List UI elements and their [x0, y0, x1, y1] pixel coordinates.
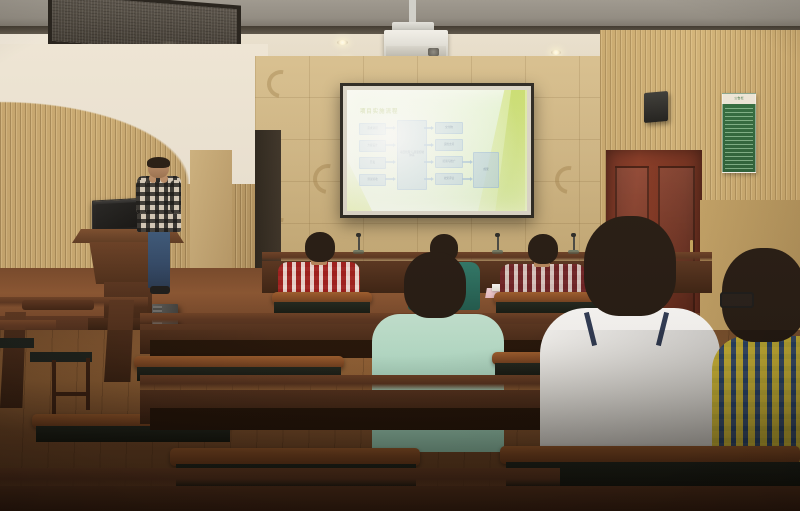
projector-lens — [428, 48, 439, 56]
presenter-hair — [147, 157, 170, 168]
lecture-hall-photo: 公告栏 项目实施流程 需求调研 方案设计 开发 测试验收 — [0, 0, 800, 511]
green-notice-board[interactable]: 公告栏 — [722, 93, 756, 173]
plaid-pattern — [136, 180, 147, 214]
notice-board-text-rows — [725, 106, 753, 169]
attendee-head — [584, 216, 676, 316]
floor-shading — [0, 330, 800, 511]
presenter-arm-right — [170, 180, 181, 214]
projection-screen: 项目实施流程 需求调研 方案设计 开发 测试验收 项目管理 与质量控制体系 交付… — [340, 83, 534, 218]
presenter-jeans — [148, 230, 170, 288]
plaid-pattern — [170, 180, 181, 214]
presenter-speaking — [136, 158, 182, 306]
notice-board-header: 公告栏 — [734, 96, 744, 100]
screen-border: 项目实施流程 需求调研 方案设计 开发 测试验收 项目管理 与质量控制体系 交付… — [343, 86, 531, 215]
wall-speaker — [644, 91, 668, 123]
recessed-downlight — [337, 40, 348, 45]
mic-stem — [497, 236, 499, 250]
projection-glare — [347, 90, 527, 211]
recessed-downlight — [551, 50, 561, 55]
attendee-head — [305, 232, 335, 262]
presenter-arm-left — [136, 180, 147, 214]
side-chair-back — [22, 300, 94, 310]
eyeglasses — [720, 292, 754, 308]
presenter-shoe — [150, 286, 170, 294]
attendee-head — [404, 252, 466, 318]
left-desk-top — [0, 320, 56, 330]
projected-slide: 项目实施流程 需求调研 方案设计 开发 测试验收 项目管理 与质量控制体系 交付… — [347, 90, 527, 211]
